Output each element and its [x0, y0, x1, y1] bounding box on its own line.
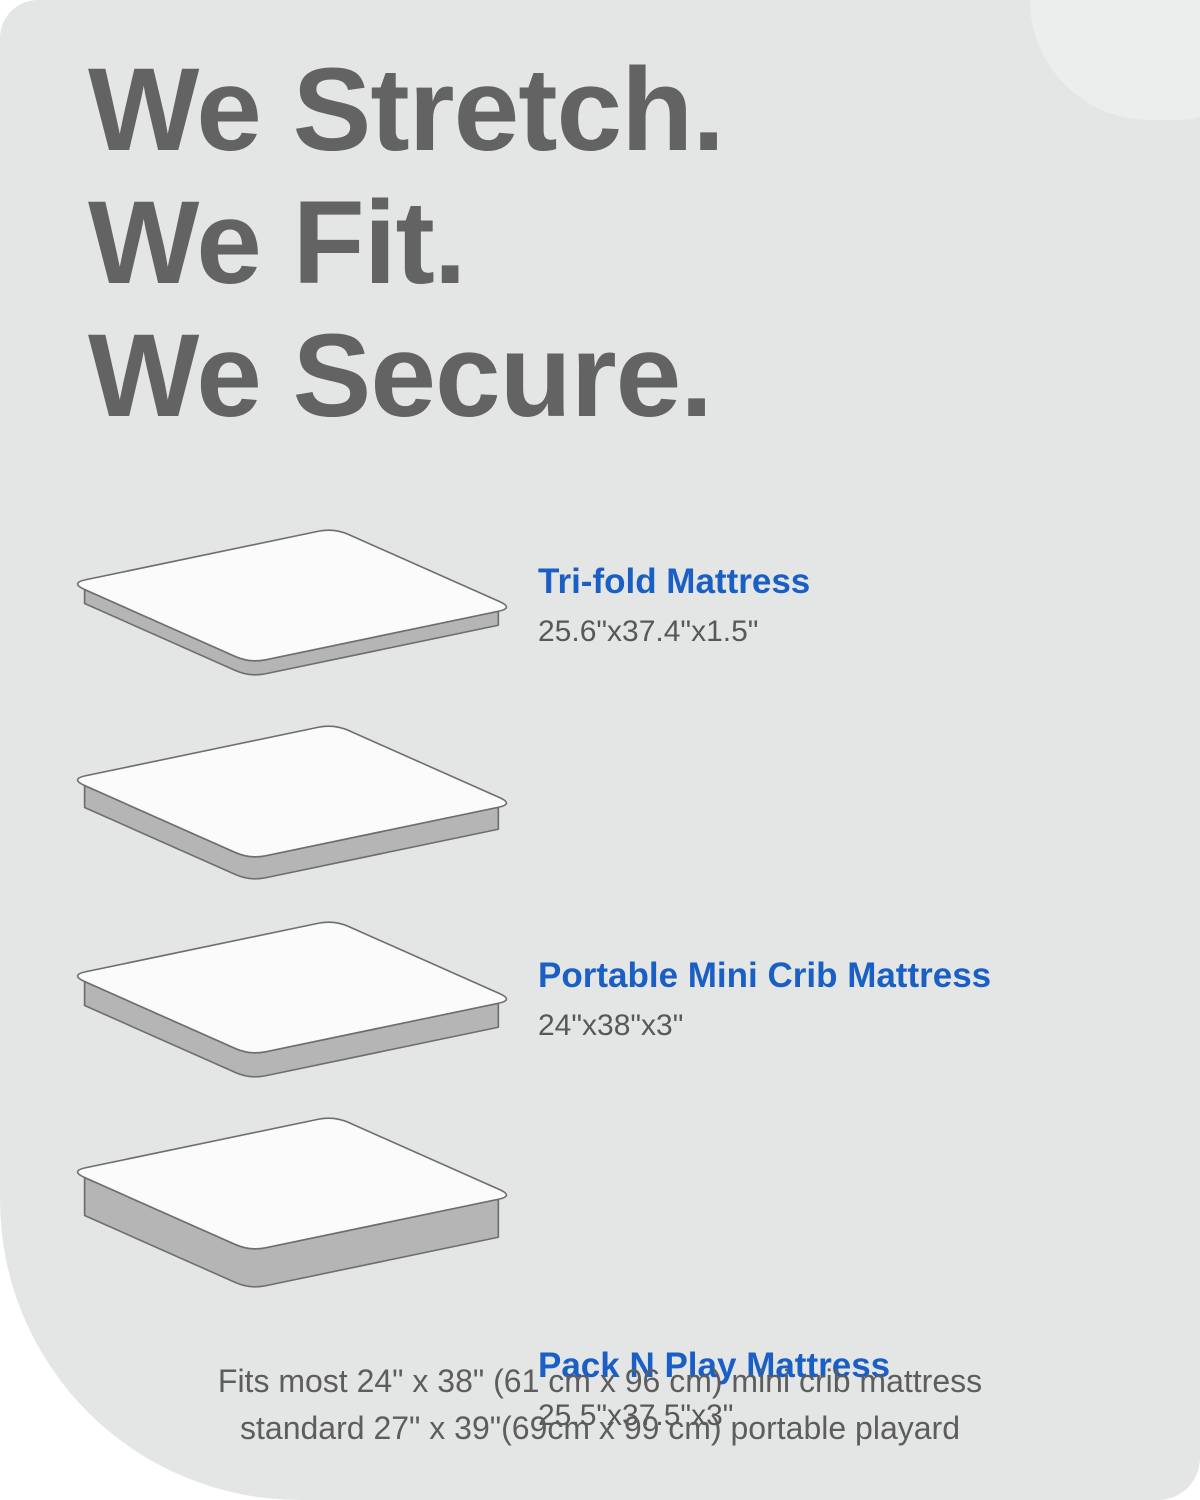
product-list: Tri-fold Mattress 25.6"x37.4"x1.5" Porta… [0, 520, 1200, 1304]
mattress-isometric-icon [62, 912, 522, 1108]
list-item: Pack N Play Mattress 25.5"x37.5"x5" [0, 1108, 1200, 1304]
list-item: Tri-fold Mattress 25.6"x37.4"x1.5" [0, 520, 1200, 716]
footer-line-2: standard 27" x 39"(69cm x 99 cm) portabl… [0, 1405, 1200, 1452]
footer-note: Fits most 24" x 38" (61 cm x 96 cm) mini… [0, 1358, 1200, 1452]
product-dimensions: 25.6"x37.4"x1.5" [538, 614, 1178, 650]
product-title: Tri-fold Mattress [538, 562, 1178, 602]
headline-line-3: We Secure. [88, 310, 1108, 443]
headline-line-1: We Stretch. [88, 44, 1108, 177]
mattress-isometric-icon [62, 1108, 522, 1304]
mattress-isometric-icon [62, 520, 522, 716]
product-text-block: Tri-fold Mattress 25.6"x37.4"x1.5" [538, 562, 1178, 650]
list-item: Pack N Play Mattress 25.5"x37.5"x3" [0, 912, 1200, 1108]
product-infographic: We Stretch. We Fit. We Secure. Tri-fold … [0, 0, 1200, 1500]
headline-line-2: We Fit. [88, 177, 1108, 310]
list-item: Portable Mini Crib Mattress 24"x38"x3" [0, 716, 1200, 912]
mattress-isometric-icon [62, 716, 522, 912]
headline-block: We Stretch. We Fit. We Secure. [88, 44, 1108, 443]
footer-line-1: Fits most 24" x 38" (61 cm x 96 cm) mini… [0, 1358, 1200, 1405]
